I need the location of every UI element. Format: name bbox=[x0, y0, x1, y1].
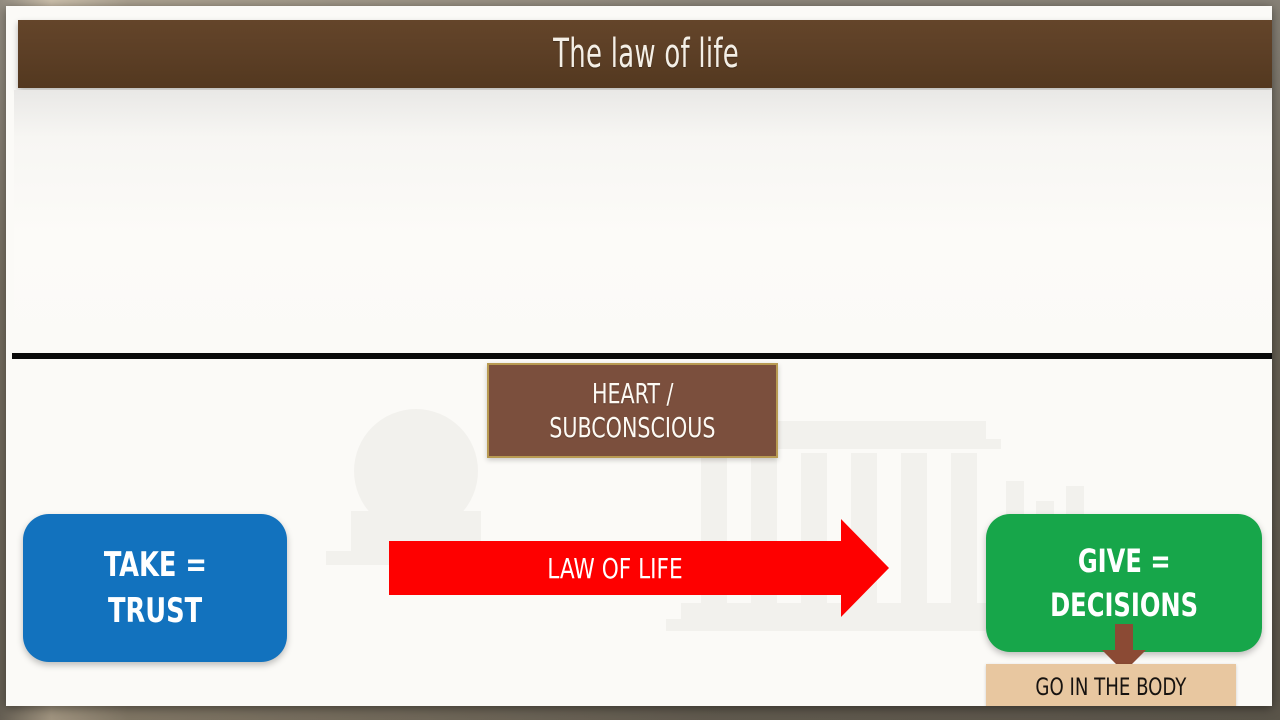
slide-content-area-empty bbox=[14, 90, 1272, 354]
give-box-line-2: DECISIONS bbox=[1050, 583, 1198, 627]
go-in-the-body-label: GO IN THE BODY bbox=[1035, 673, 1186, 701]
right-arrow-icon bbox=[389, 519, 889, 617]
horizontal-divider bbox=[12, 353, 1272, 359]
go-in-the-body-box[interactable]: GO IN THE BODY bbox=[986, 664, 1236, 706]
law-of-life-arrow[interactable]: LAW OF LIFE bbox=[389, 519, 889, 617]
slide-surface: The law of life HEART / SUBCONSCIOUS TAK… bbox=[6, 6, 1272, 706]
slide-title-bar: The law of life bbox=[18, 20, 1272, 88]
heart-box-line-1: HEART / bbox=[592, 377, 674, 411]
take-box-line-1: TAKE = bbox=[103, 542, 206, 588]
give-box-line-1: GIVE = bbox=[1078, 539, 1171, 583]
take-trust-box[interactable]: TAKE = TRUST bbox=[23, 514, 287, 662]
heart-box-line-2: SUBCONSCIOUS bbox=[549, 411, 715, 445]
page-title: The law of life bbox=[553, 31, 739, 77]
take-box-line-2: TRUST bbox=[108, 588, 202, 634]
heart-subconscious-box[interactable]: HEART / SUBCONSCIOUS bbox=[487, 363, 778, 458]
